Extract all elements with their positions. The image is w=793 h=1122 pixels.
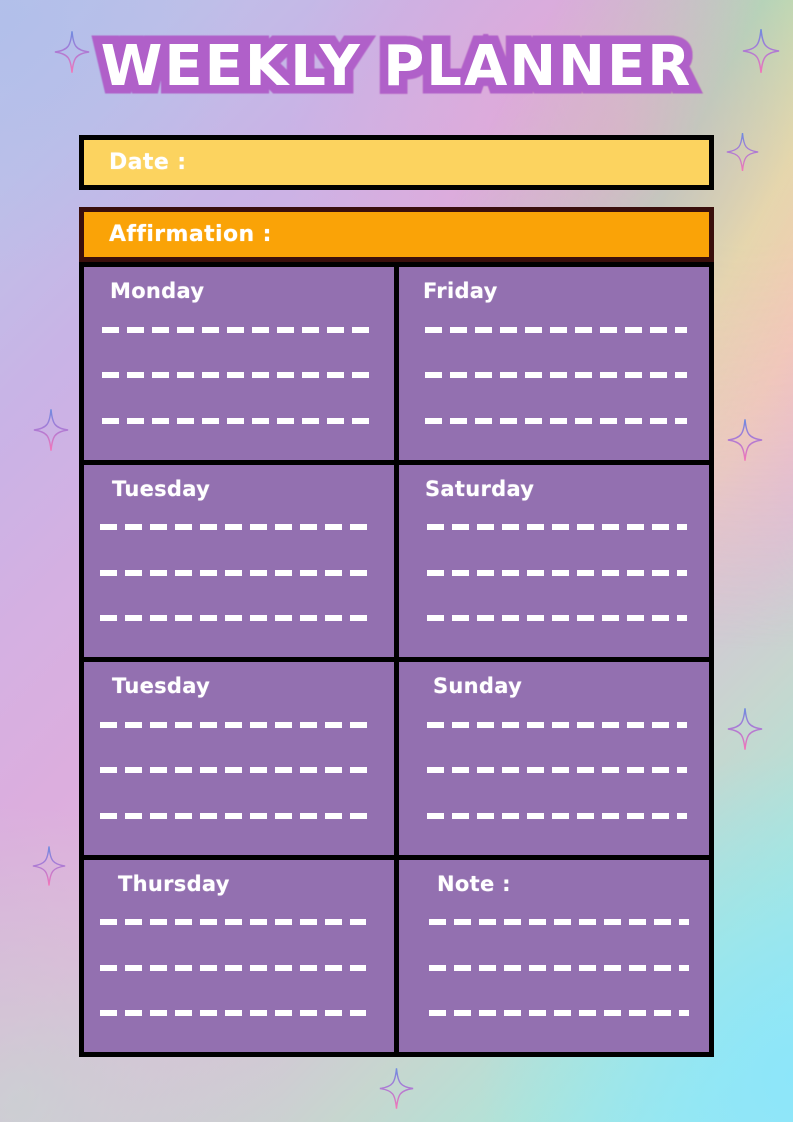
writing-line[interactable] <box>429 965 689 971</box>
writing-line[interactable] <box>102 418 370 424</box>
day-cell-saturday[interactable]: Saturday <box>399 465 709 658</box>
date-field[interactable]: Date : <box>79 135 714 190</box>
writing-line[interactable] <box>427 570 687 576</box>
day-cell-thursday[interactable]: Thursday <box>84 860 394 1053</box>
writing-line[interactable] <box>100 813 368 819</box>
day-label: Thursday <box>98 872 380 896</box>
writing-lines[interactable] <box>413 900 695 1043</box>
writing-line[interactable] <box>425 418 687 424</box>
day-cell-monday[interactable]: Monday <box>84 267 394 460</box>
writing-line[interactable] <box>102 372 370 378</box>
day-label: Tuesday <box>98 477 380 501</box>
writing-line[interactable] <box>429 1010 689 1016</box>
writing-line[interactable] <box>100 524 368 530</box>
writing-lines[interactable] <box>98 505 380 648</box>
writing-line[interactable] <box>427 615 687 621</box>
day-label: Monday <box>98 279 380 303</box>
writing-line[interactable] <box>427 722 687 728</box>
writing-lines[interactable] <box>413 505 695 648</box>
day-cell-tuesday-2[interactable]: Tuesday <box>84 662 394 855</box>
day-cell-sunday[interactable]: Sunday <box>399 662 709 855</box>
writing-lines[interactable] <box>98 900 380 1043</box>
writing-line[interactable] <box>100 570 368 576</box>
writing-line[interactable] <box>100 722 368 728</box>
day-label: Saturday <box>413 477 695 501</box>
planner-grid: Monday Friday Tuesday Satu <box>79 262 714 1057</box>
writing-line[interactable] <box>425 372 687 378</box>
writing-line[interactable] <box>100 1010 366 1016</box>
writing-lines[interactable] <box>98 307 380 450</box>
day-label: Tuesday <box>98 674 380 698</box>
note-cell[interactable]: Note : <box>399 860 709 1053</box>
writing-line[interactable] <box>100 919 366 925</box>
writing-line[interactable] <box>427 813 687 819</box>
writing-lines[interactable] <box>413 702 695 845</box>
writing-line[interactable] <box>427 524 687 530</box>
date-field-label: Date : <box>84 150 186 175</box>
writing-line[interactable] <box>429 919 689 925</box>
day-label: Friday <box>413 279 695 303</box>
writing-lines[interactable] <box>413 307 695 450</box>
writing-line[interactable] <box>100 965 366 971</box>
writing-line[interactable] <box>425 327 687 333</box>
note-label: Note : <box>413 872 695 896</box>
writing-line[interactable] <box>100 767 368 773</box>
day-label: Sunday <box>413 674 695 698</box>
writing-line[interactable] <box>100 615 368 621</box>
day-cell-tuesday[interactable]: Tuesday <box>84 465 394 658</box>
writing-line[interactable] <box>427 767 687 773</box>
planner-page: WEEKLY PLANNER WEEKLY PLANNER Date : Aff… <box>0 0 793 1122</box>
writing-lines[interactable] <box>98 702 380 845</box>
writing-line[interactable] <box>102 327 370 333</box>
page-title: WEEKLY PLANNER <box>0 34 793 99</box>
affirmation-field-label: Affirmation : <box>84 222 272 247</box>
day-cell-friday[interactable]: Friday <box>399 267 709 460</box>
affirmation-field[interactable]: Affirmation : <box>79 207 714 262</box>
